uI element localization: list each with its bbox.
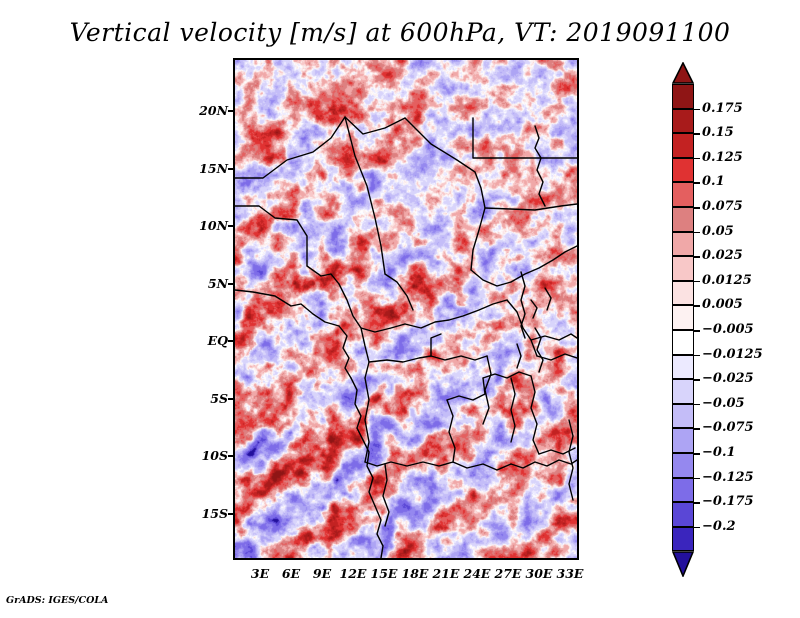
colorbar-tick — [694, 207, 700, 209]
x-tick-label-24e: 24E — [460, 566, 494, 581]
colorbar-tick-label: 0.125 — [702, 151, 743, 164]
colorbar-band — [672, 109, 694, 134]
colorbar-tick — [694, 502, 700, 504]
colorbar-tick-label: 0.15 — [702, 126, 734, 139]
x-tick-label-6e: 6E — [276, 566, 306, 581]
colorbar-tick-label: −0.125 — [702, 471, 754, 484]
colorbar-tick — [694, 305, 700, 307]
colorbar-band — [672, 453, 694, 478]
colorbar-band — [672, 379, 694, 404]
colorbar-band — [672, 502, 694, 527]
colorbar-tick-label: −0.0125 — [702, 348, 763, 361]
colorbar-band — [672, 207, 694, 232]
y-tick-mark — [228, 110, 234, 112]
colorbar-tick-label: −0.2 — [702, 520, 736, 533]
colorbar-band — [672, 478, 694, 503]
y-tick-label-10n: 10N — [196, 218, 228, 233]
y-tick-mark — [228, 225, 234, 227]
colorbar-tick — [694, 453, 700, 455]
colorbar-tick-label: 0.005 — [702, 298, 743, 311]
y-tick-mark — [228, 168, 234, 170]
colorbar-tick — [694, 355, 700, 357]
y-tick-label-15n: 15N — [196, 161, 228, 176]
colorbar-tick — [694, 379, 700, 381]
y-tick-label-10s: 10S — [192, 448, 228, 463]
colorbar-tick-label: −0.1 — [702, 446, 736, 459]
colorbar-band — [672, 428, 694, 453]
y-tick-label-15s: 15S — [192, 506, 228, 521]
x-tick-label-27e: 27E — [491, 566, 525, 581]
colorbar-band — [672, 232, 694, 257]
map-overlay-borders — [235, 60, 577, 558]
colorbar-tick — [694, 478, 700, 480]
colorbar-band — [672, 404, 694, 429]
page-title: Vertical velocity [m/s] at 600hPa, VT: 2… — [0, 18, 800, 47]
colorbar-tick-label: −0.05 — [702, 397, 745, 410]
y-tick-label-5s: 5S — [196, 391, 228, 406]
colorbar-tick-label: 0.0125 — [702, 274, 752, 287]
colorbar-tick — [694, 428, 700, 430]
colorbar-tick — [694, 182, 700, 184]
x-tick-label-12e: 12E — [336, 566, 370, 581]
colorbar-tick-label: 0.075 — [702, 200, 743, 213]
x-tick-label-9e: 9E — [307, 566, 337, 581]
colorbar-band — [672, 330, 694, 355]
colorbar-tick — [694, 404, 700, 406]
y-tick-mark — [228, 513, 234, 515]
colorbar-band — [672, 281, 694, 306]
colorbar-band — [672, 355, 694, 380]
colorbar-tick — [694, 232, 700, 234]
y-tick-mark — [228, 283, 234, 285]
colorbar-tick-label: −0.005 — [702, 323, 754, 336]
colorbar-tick — [694, 527, 700, 529]
x-tick-label-33e: 33E — [553, 566, 587, 581]
x-tick-label-15e: 15E — [367, 566, 401, 581]
colorbar-tick — [694, 256, 700, 258]
colorbar-legend: 0.1750.150.1250.10.0750.050.0250.01250.0… — [660, 58, 800, 563]
colorbar-tick — [694, 158, 700, 160]
colorbar-tick-label: 0.175 — [702, 102, 743, 115]
y-tick-label-5n: 5N — [196, 276, 228, 291]
colorbar-tick-label: 0.025 — [702, 249, 743, 262]
x-tick-label-21e: 21E — [429, 566, 463, 581]
colorbar-tick-label: −0.175 — [702, 495, 754, 508]
chart-canvas: Vertical velocity [m/s] at 600hPa, VT: 2… — [0, 0, 800, 618]
colorbar-tick — [694, 281, 700, 283]
colorbar-band — [672, 84, 694, 109]
colorbar-tick-label: −0.025 — [702, 372, 754, 385]
colorbar-band — [672, 256, 694, 281]
colorbar-under-arrow — [672, 551, 694, 577]
map-plot-area — [233, 58, 579, 560]
colorbar-band — [672, 305, 694, 330]
colorbar-tick — [694, 330, 700, 332]
y-tick-mark — [228, 398, 234, 400]
x-tick-label-30e: 30E — [522, 566, 556, 581]
y-tick-label-eq: EQ — [196, 333, 228, 348]
colorbar-tick — [694, 133, 700, 135]
colorbar-band — [672, 158, 694, 183]
x-tick-label-18e: 18E — [398, 566, 432, 581]
x-tick-label-3e: 3E — [245, 566, 275, 581]
colorbar-tick-label: −0.075 — [702, 421, 754, 434]
colorbar-tick-label: 0.05 — [702, 225, 734, 238]
colorbar-band — [672, 527, 694, 552]
colorbar-band — [672, 182, 694, 207]
y-tick-mark — [228, 455, 234, 457]
y-tick-label-20n: 20N — [196, 103, 228, 118]
colorbar-tick-label: 0.1 — [702, 175, 725, 188]
colorbar-over-arrow — [672, 62, 694, 84]
colorbar-tick — [694, 109, 700, 111]
colorbar-band — [672, 133, 694, 158]
y-tick-mark — [228, 340, 234, 342]
footer-attribution: GrADS: IGES/COLA — [6, 595, 108, 606]
